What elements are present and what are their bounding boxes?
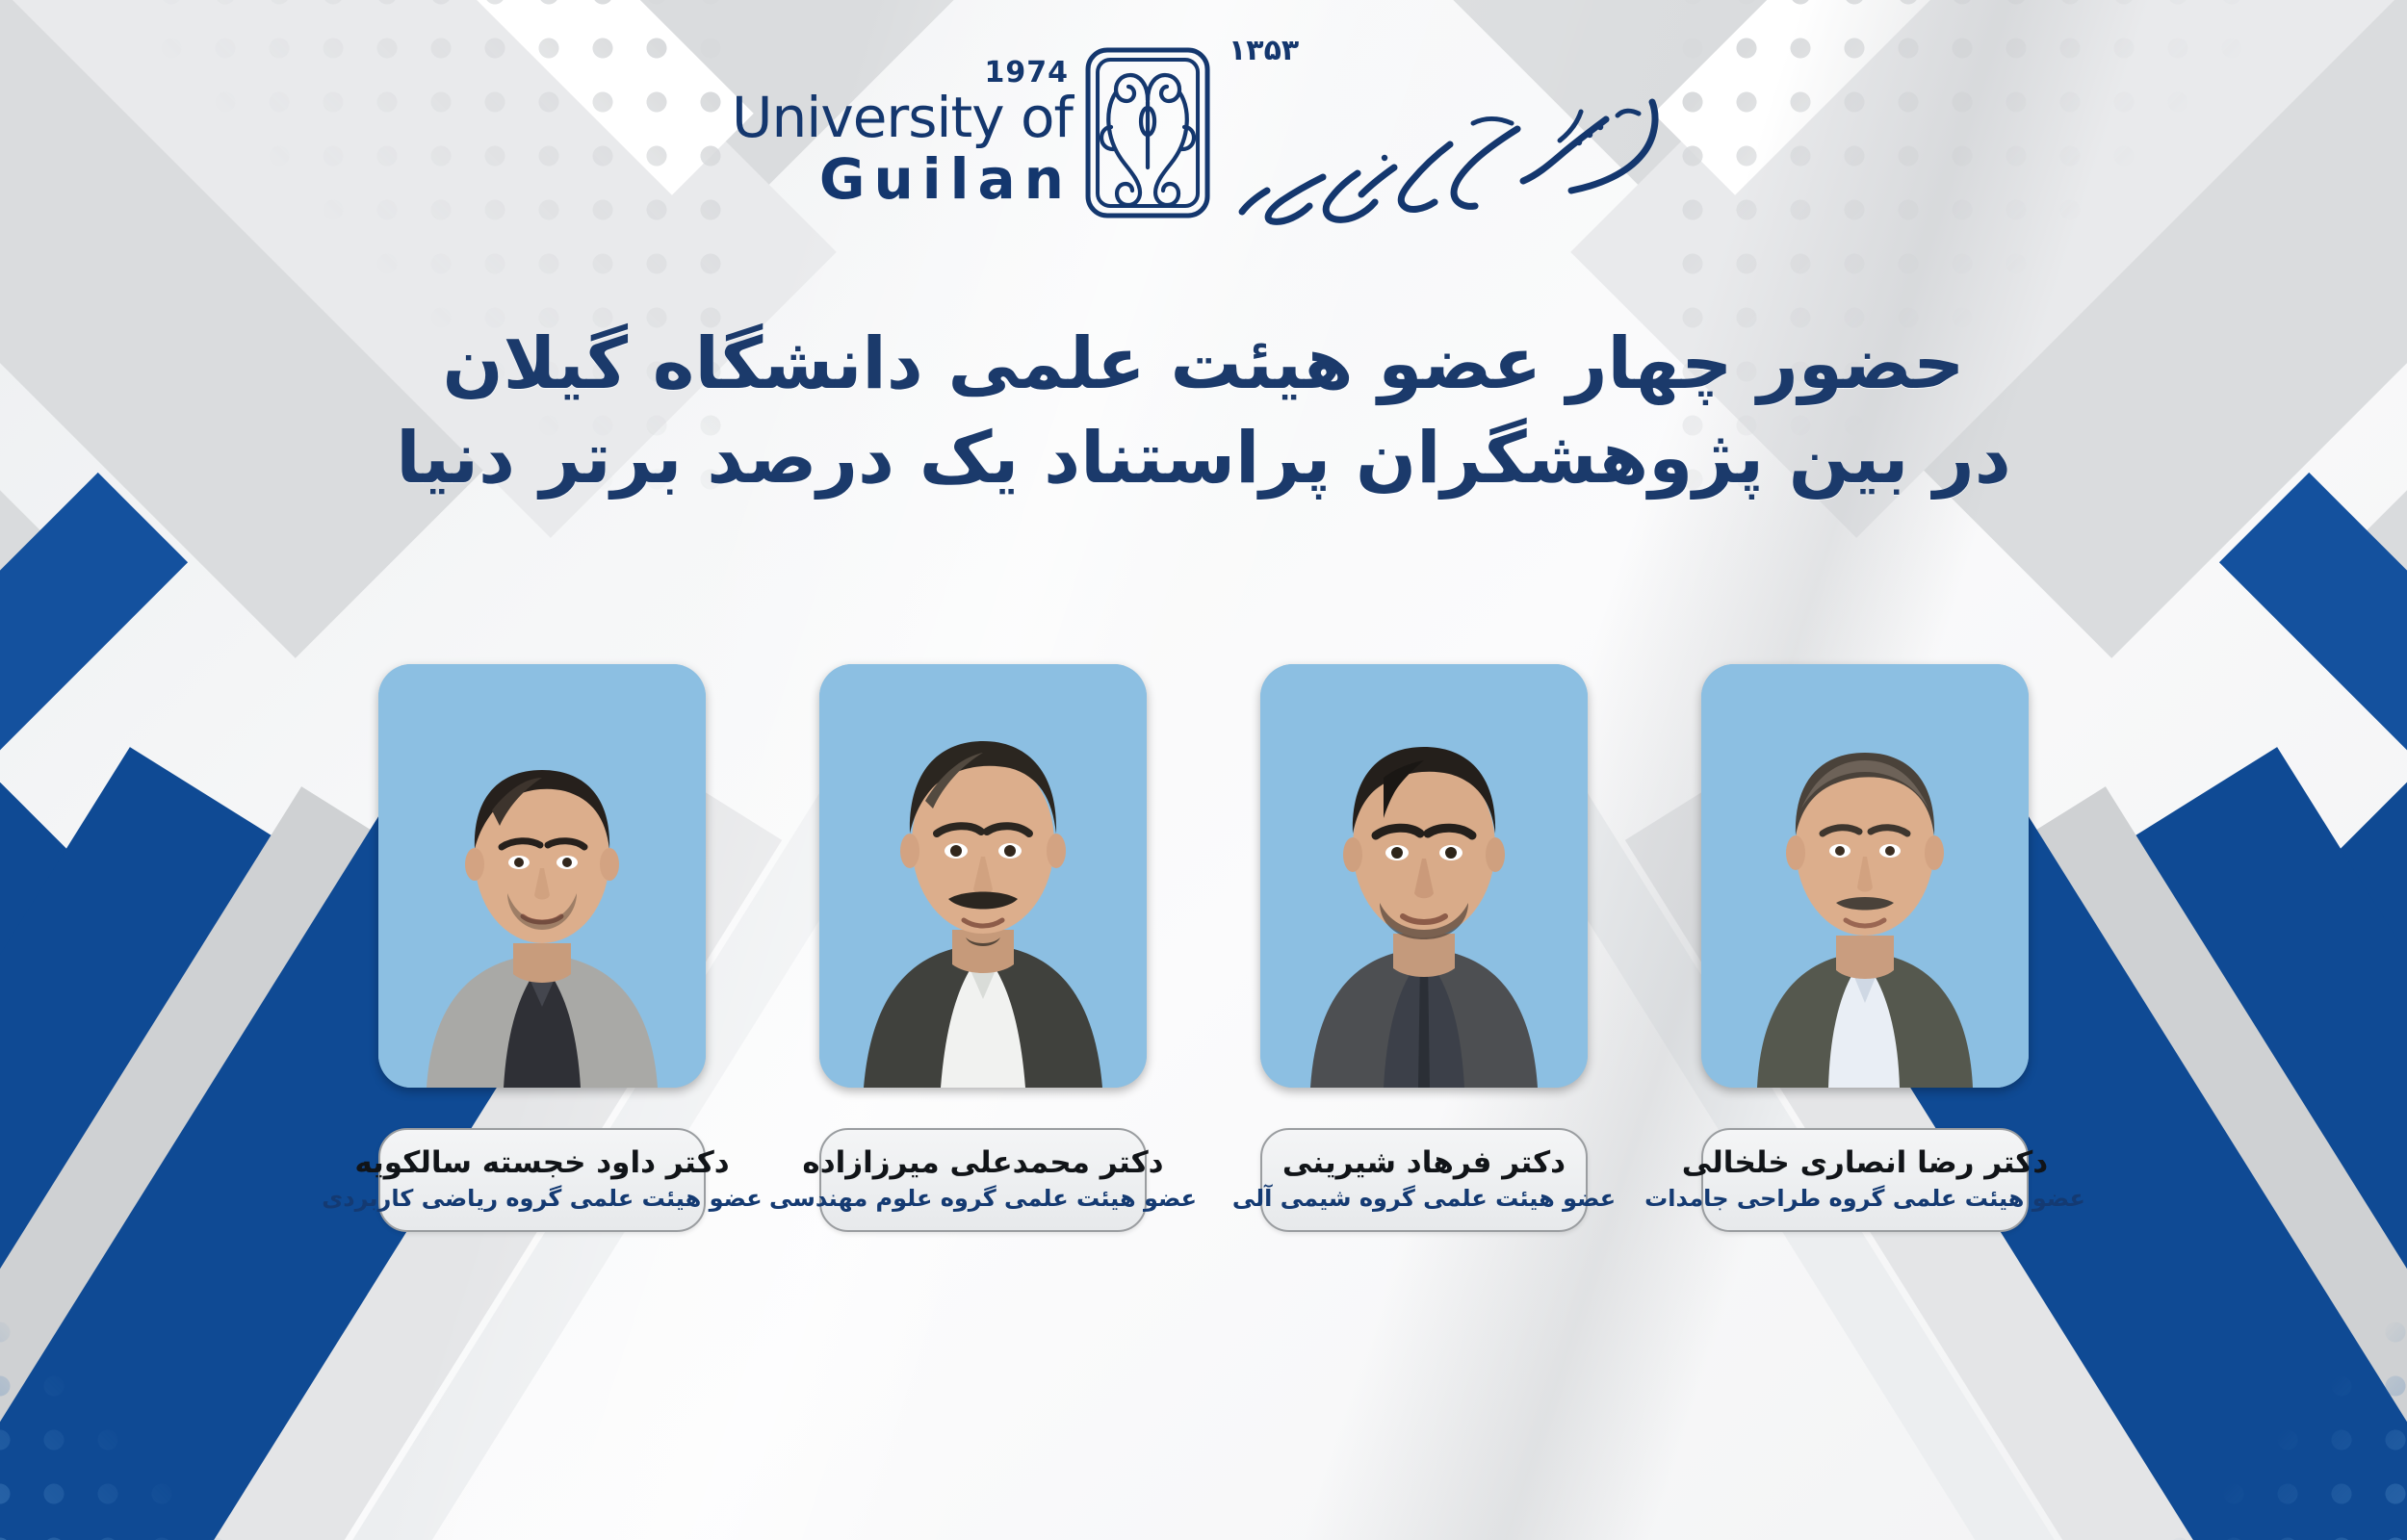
portrait-photo-4	[378, 664, 706, 1088]
nameplate-4: دکتر داود خجسته سالکویه عضو هیئت علمی گر…	[378, 1128, 706, 1232]
person-name-4: دکتر داود خجسته سالکویه	[354, 1145, 729, 1181]
portrait-photo-2	[1260, 664, 1588, 1088]
guilan-emblem-icon	[1084, 46, 1211, 219]
nameplate-3: دکتر محمدعلی میرزازاده عضو هیئت علمی گرو…	[819, 1128, 1147, 1232]
nameplates-row: دکتر رضا انصاری خلخالی عضو هیئت علمی گرو…	[0, 1128, 2407, 1232]
logo-persian-text: ۱۳۵۳	[1223, 37, 1675, 229]
logo-year-persian: ۱۳۵۳	[1223, 37, 1299, 65]
headline-line-1: حضور چهار عضو هیئت علمی دانشگاه گیلان	[0, 318, 2407, 412]
logo-persian-calligraphy-icon	[1223, 85, 1675, 229]
university-logo: 1974 University of Guilan	[732, 37, 1675, 229]
portrait-photo-3	[819, 664, 1147, 1088]
headline-line-2: در بین پژوهشگران پراستناد یک درصد برتر د…	[0, 412, 2407, 506]
person-name-3: دکتر محمدعلی میرزازاده	[802, 1145, 1163, 1181]
person-title-1: عضو هیئت علمی گروه طراحی جامدات	[1644, 1185, 2085, 1213]
logo-guilan-word: Guilan	[819, 151, 1073, 207]
person-name-1: دکتر رضا انصاری خلخالی	[1682, 1145, 2048, 1181]
person-name-2: دکتر فرهاد شیرینی	[1282, 1145, 1566, 1181]
poster-canvas: 1974 University of Guilan	[0, 0, 2407, 1540]
logo-english-text: 1974 University of Guilan	[732, 59, 1073, 207]
logo-university-word: University of	[732, 90, 1073, 145]
logo-year-english: 1974	[984, 59, 1073, 88]
person-title-3: عضو هیئت علمی گروه علوم مهندسی	[769, 1185, 1197, 1213]
person-card-3	[819, 664, 1147, 1088]
headline: حضور چهار عضو هیئت علمی دانشگاه گیلان در…	[0, 318, 2407, 505]
person-title-4: عضو هیئت علمی گروه ریاضی کاربردی	[322, 1185, 762, 1213]
portraits-row	[0, 664, 2407, 1088]
person-card-2	[1260, 664, 1588, 1088]
person-title-2: عضو هیئت علمی گروه شیمی آلی	[1232, 1185, 1616, 1213]
nameplate-1: دکتر رضا انصاری خلخالی عضو هیئت علمی گرو…	[1701, 1128, 2029, 1232]
portrait-photo-1	[1701, 664, 2029, 1088]
person-card-4	[378, 664, 706, 1088]
nameplate-2: دکتر فرهاد شیرینی عضو هیئت علمی گروه شیم…	[1260, 1128, 1588, 1232]
person-card-1	[1701, 664, 2029, 1088]
